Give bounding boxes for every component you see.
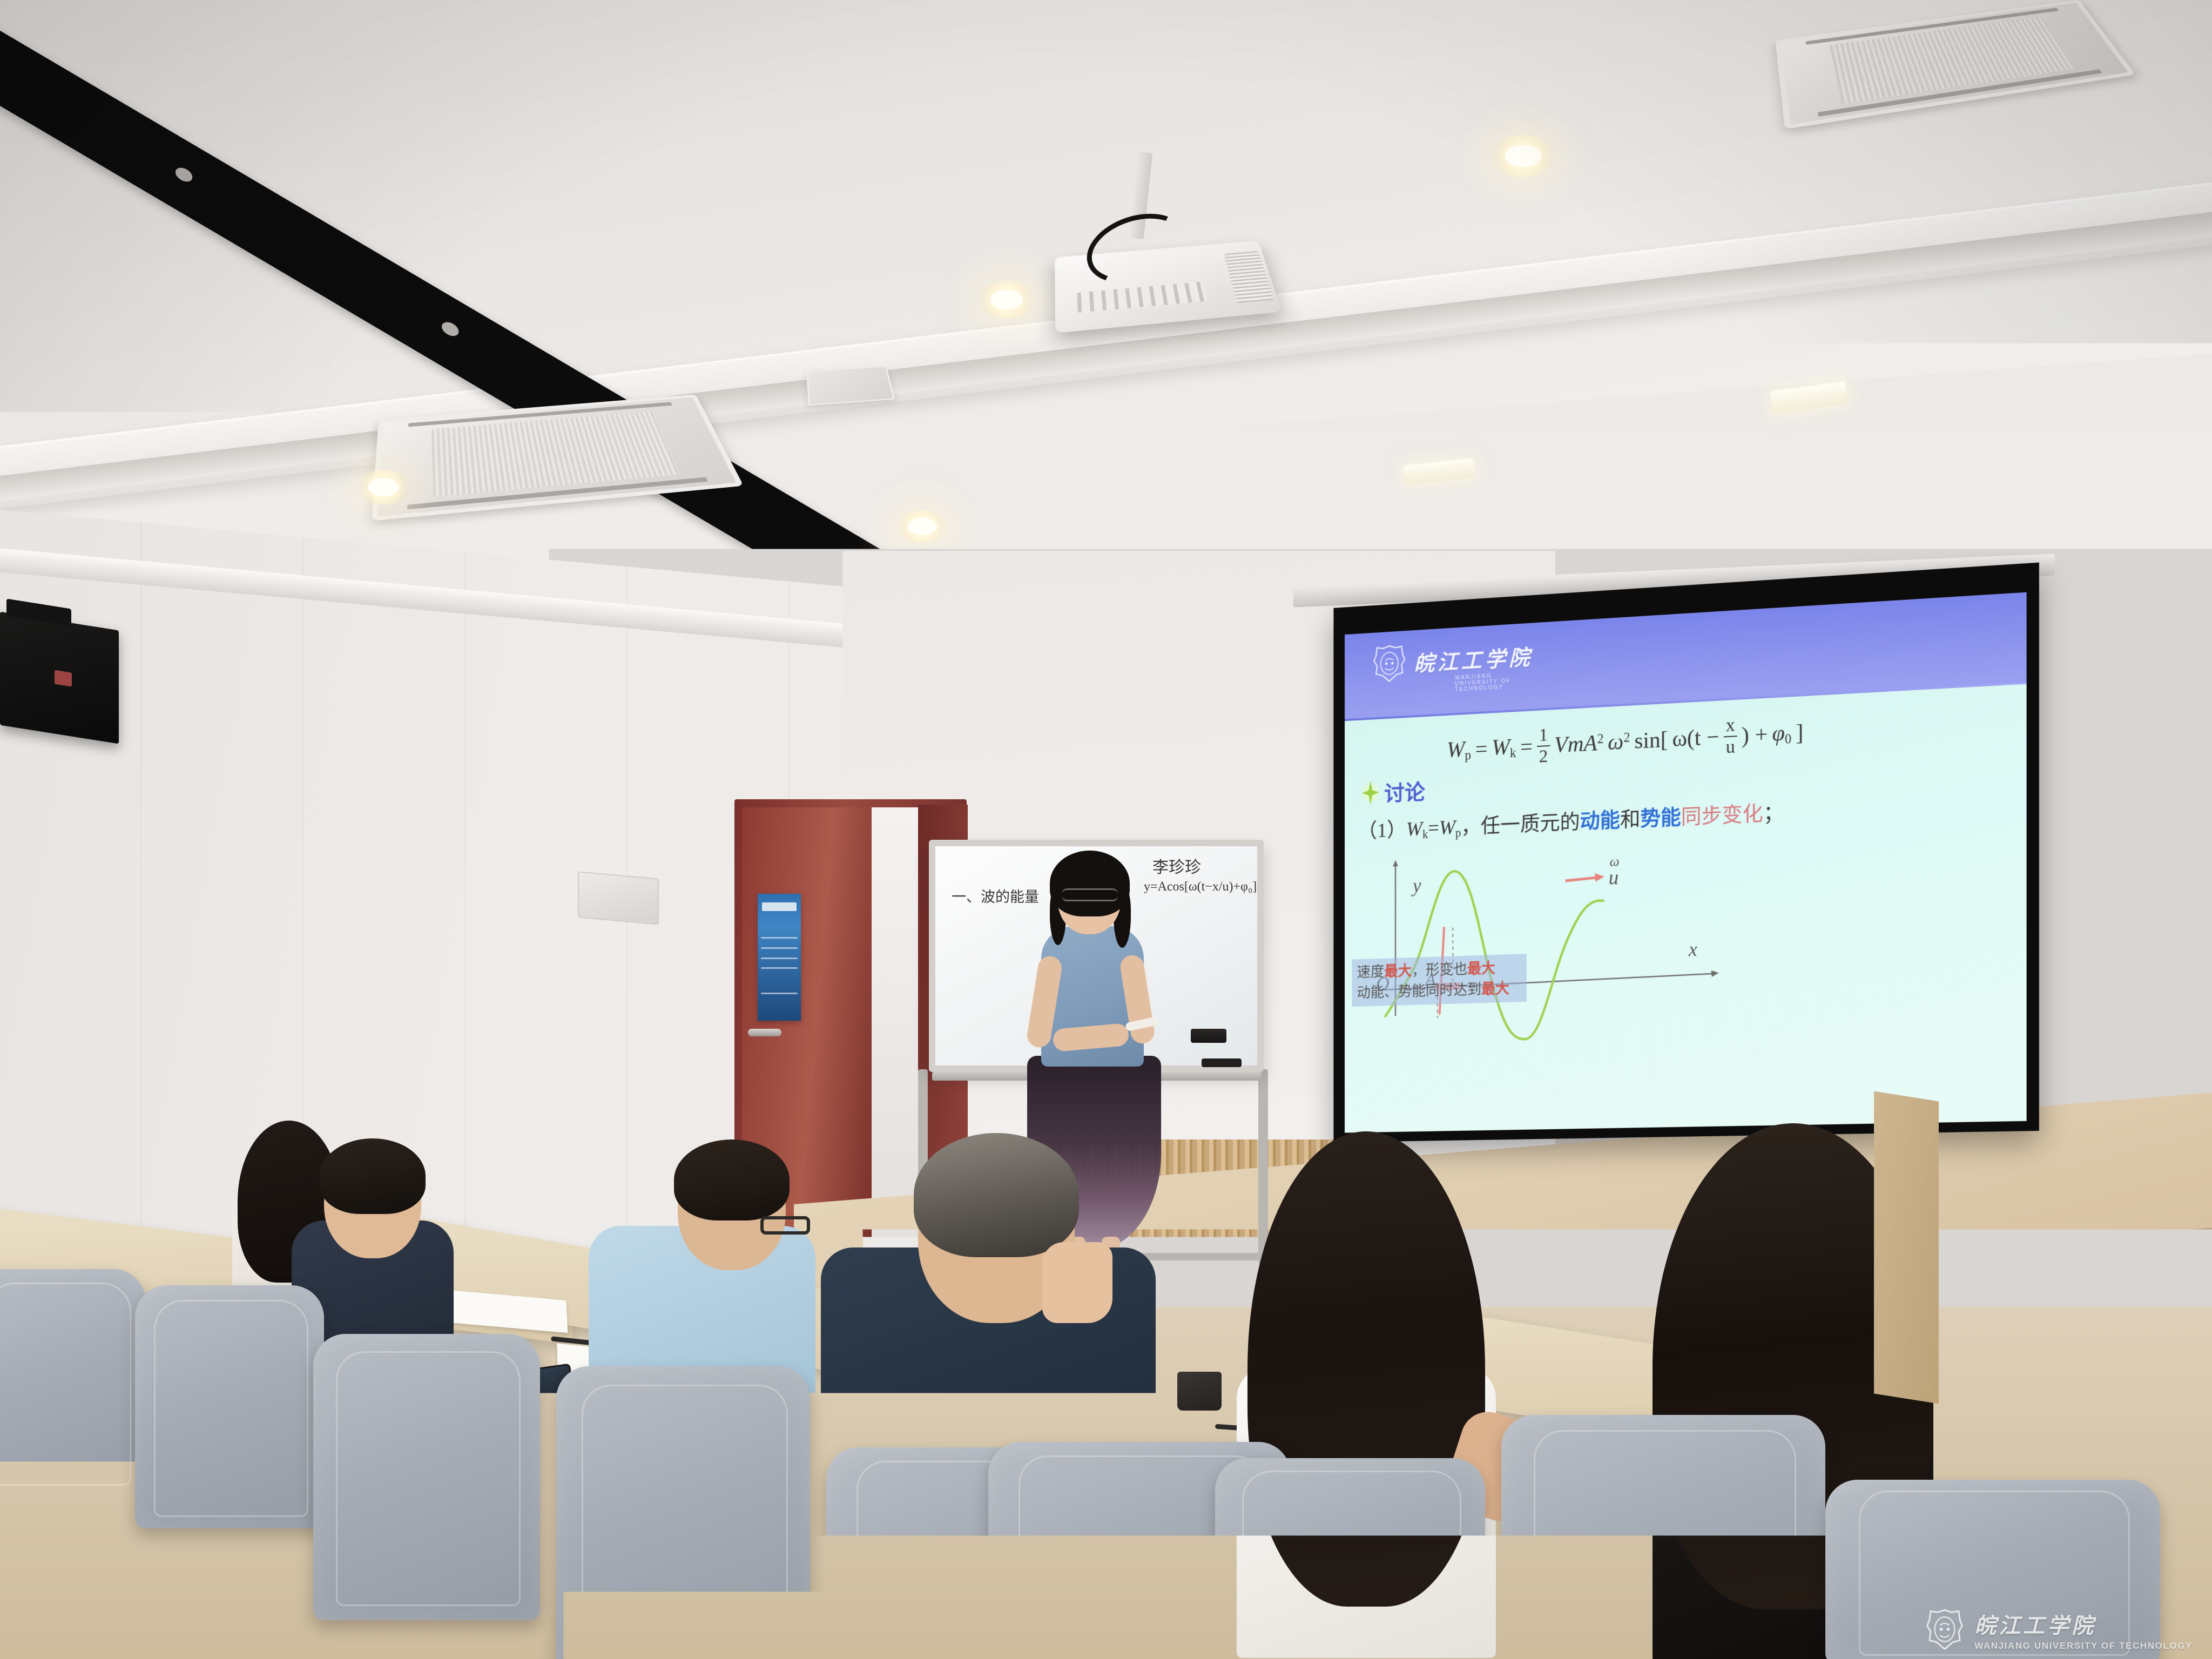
slide-logo: 皖江工学院 WANJIANG UNIVERSITY OF TECHNOLOGY [1373, 636, 1533, 684]
university-crest-icon [1373, 643, 1406, 684]
downlight-2 [977, 281, 1036, 319]
speaker-badge [55, 670, 72, 687]
a2-hair [320, 1138, 426, 1214]
poster-line-3 [761, 957, 797, 959]
presenter-hair [1050, 851, 1130, 916]
slide-logo-en: WANJIANG UNIVERSITY OF TECHNOLOGY [1455, 671, 1533, 693]
point-highlight-sync: 同步变化 [1681, 802, 1763, 829]
projection-screen: 皖江工学院 WANJIANG UNIVERSITY OF TECHNOLOGY … [1333, 563, 2039, 1143]
door-handle[interactable] [748, 1029, 781, 1036]
wave-diagram-svg: y x O A u ω [1375, 844, 1731, 1048]
slide-note-box: 速度最大，形变也最大 动能、势能同时达到最大 [1352, 954, 1527, 1007]
downlight-3 [356, 470, 410, 504]
beam-fixture-b [439, 319, 461, 339]
formula-inner-open: ω(t − [1672, 724, 1719, 753]
chair-2[interactable] [135, 1285, 324, 1528]
formula-sin-open: sin[ [1634, 727, 1668, 754]
podium-side-panel [1874, 1091, 1939, 1404]
formula-inner-close: ) + [1742, 721, 1768, 749]
chair-4[interactable] [556, 1366, 810, 1659]
lectern-paper[interactable] [1425, 1061, 1528, 1084]
axis-label-x: x [1688, 938, 1697, 960]
whiteboard-leg-right [1258, 1069, 1268, 1264]
poster-line-2 [761, 947, 797, 949]
poster-line-1 [761, 937, 797, 939]
formula-phi0: φ0 [1772, 720, 1791, 748]
poster-title-bar [762, 902, 797, 911]
whiteboard-instructor-name: 李珍珍 [1152, 854, 1201, 878]
y-axis-arrow [1393, 860, 1398, 866]
wall-control-plate[interactable] [578, 871, 659, 925]
label-omega: ω [1610, 853, 1620, 869]
whiteboard-left-note: 一、波的能量 [952, 885, 1039, 906]
formula-vma: VmA2 [1554, 730, 1604, 758]
point-highlight-potential: 势能 [1641, 806, 1681, 831]
a3-eyeglasses [760, 1216, 810, 1235]
presenter-eyeglasses [1062, 888, 1118, 901]
propagation-arrow-line [1566, 878, 1599, 881]
door-poster [758, 894, 801, 1021]
label-u: u [1609, 867, 1619, 889]
ceiling-vent-panel [806, 366, 895, 406]
slide-bullet-label: 讨论 [1384, 775, 1425, 807]
point-text-end: ； [1763, 801, 1784, 825]
slide-note-line-2: 动能、势能同时达到最大 [1357, 978, 1521, 1003]
formula-wp: Wp [1447, 737, 1471, 764]
whiteboard-marker[interactable] [1202, 1058, 1242, 1067]
x-axis-arrow [1711, 970, 1719, 977]
point-text-b: 和 [1620, 808, 1640, 831]
projector-ports [1077, 281, 1206, 313]
lecture-room-photo: 一、波的能量 李珍珍 y=Acos[ω(t−x/u)+φ₀] [0, 0, 2212, 1659]
wooden-lectern [1399, 1083, 1879, 1412]
chair-8[interactable] [1501, 1415, 1825, 1659]
chair-7[interactable] [1215, 1458, 1485, 1659]
whiteboard-formula: y=Acos[ω(t−x/u)+φ₀] [1144, 880, 1257, 894]
downlight-1 [1491, 135, 1555, 177]
four-point-star-icon [1362, 780, 1379, 805]
poster-line-4 [761, 967, 797, 969]
formula-eq-2: = [1520, 734, 1533, 760]
axis-label-y: y [1411, 874, 1421, 896]
a4-hair [914, 1133, 1079, 1257]
point-text-a: ，任一质元的 [1461, 811, 1580, 838]
slide-discussion-bullet: 讨论 [1362, 775, 1425, 808]
formula-eq-1: = [1475, 736, 1488, 762]
propagation-arrow-head [1595, 873, 1604, 882]
point-highlight-kinetic: 动能 [1580, 809, 1620, 833]
downlight-4 [896, 510, 948, 543]
chair-9[interactable] [1825, 1480, 2160, 1659]
poster-line-5 [761, 993, 797, 994]
point-index: （1） [1358, 819, 1406, 843]
beam-fixture-a [173, 165, 194, 184]
wave-diagram: y x O A u ω [1375, 844, 1731, 1048]
formula-omega-sq: ω2 [1608, 729, 1630, 756]
formula-half-fraction: 1 2 [1537, 726, 1550, 766]
a4-hand-on-chin [1042, 1242, 1112, 1323]
formula-x-over-u: x u [1724, 716, 1737, 757]
wall-speaker [0, 612, 119, 744]
formula-close-bracket: ] [1796, 720, 1803, 746]
projected-slide: 皖江工学院 WANJIANG UNIVERSITY OF TECHNOLOGY … [1345, 592, 2027, 1133]
chair-3[interactable] [313, 1334, 540, 1620]
dark-cup[interactable] [1177, 1372, 1222, 1411]
formula-wk: Wk [1492, 734, 1516, 762]
whiteboard-eraser[interactable] [1191, 1029, 1226, 1043]
slide-formula: Wp = Wk = 1 2 VmA2 ω2 sin[ ω(t − x u [1447, 712, 1804, 770]
chair-1[interactable] [0, 1269, 146, 1496]
a3-hair [674, 1139, 790, 1220]
